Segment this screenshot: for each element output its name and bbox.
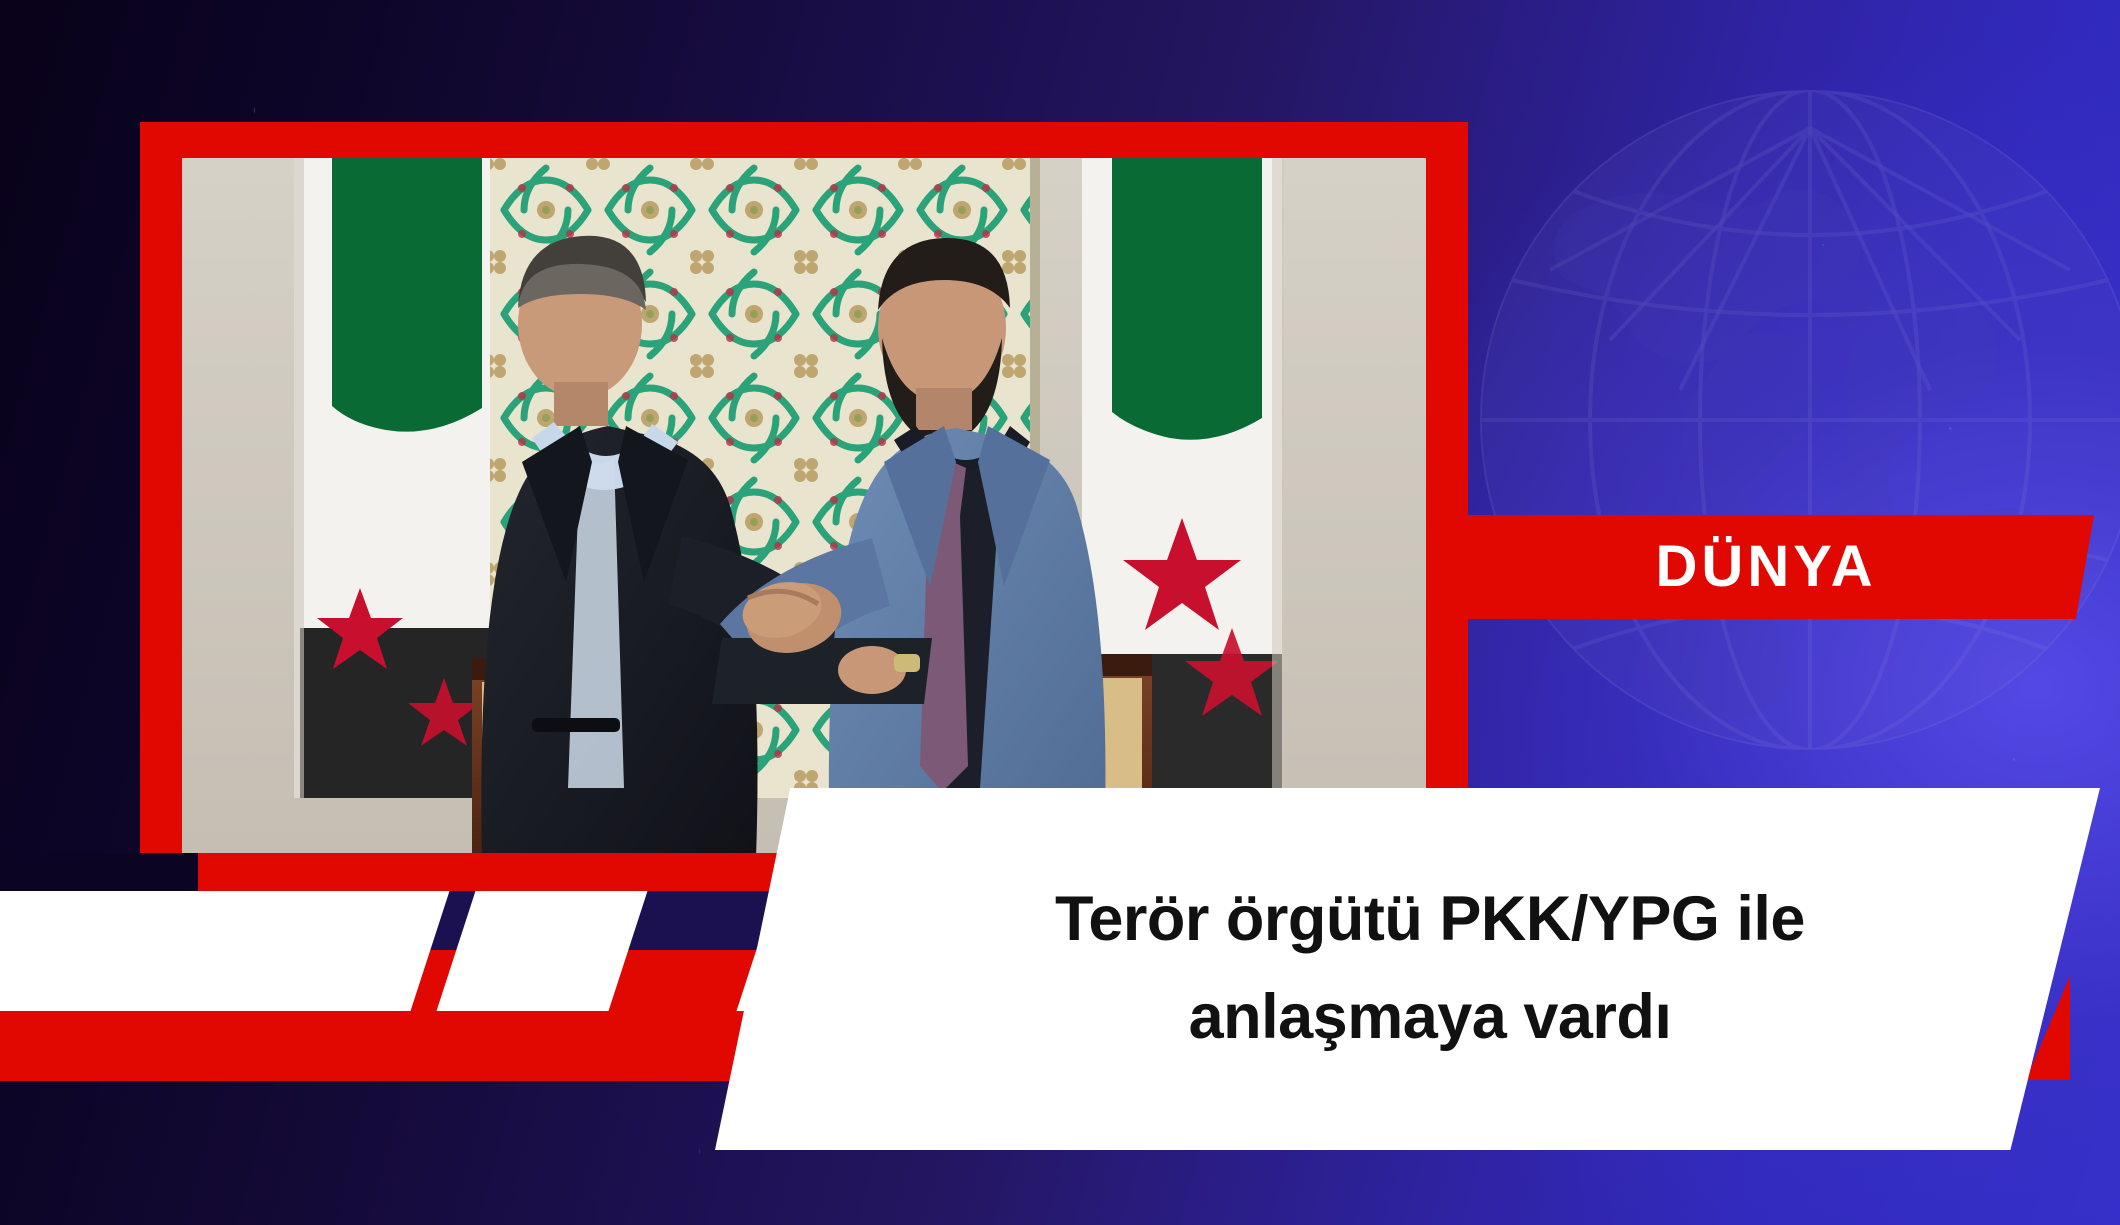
category-badge[interactable]: DÜNYA [1448, 515, 2094, 619]
news-photo [182, 158, 1426, 856]
news-graphic: DÜNYA Terör örgütü PKK/YPG ile anlaşmaya… [0, 0, 2120, 1225]
category-badge-label: DÜNYA [1656, 538, 1887, 596]
photo-frame [140, 122, 1468, 892]
headline-text: Terör örgütü PKK/YPG ile anlaşmaya vardı [980, 871, 1880, 1066]
headline-card: Terör örgütü PKK/YPG ile anlaşmaya vardı [700, 788, 2100, 1150]
stripe-navy-corner [0, 853, 198, 891]
